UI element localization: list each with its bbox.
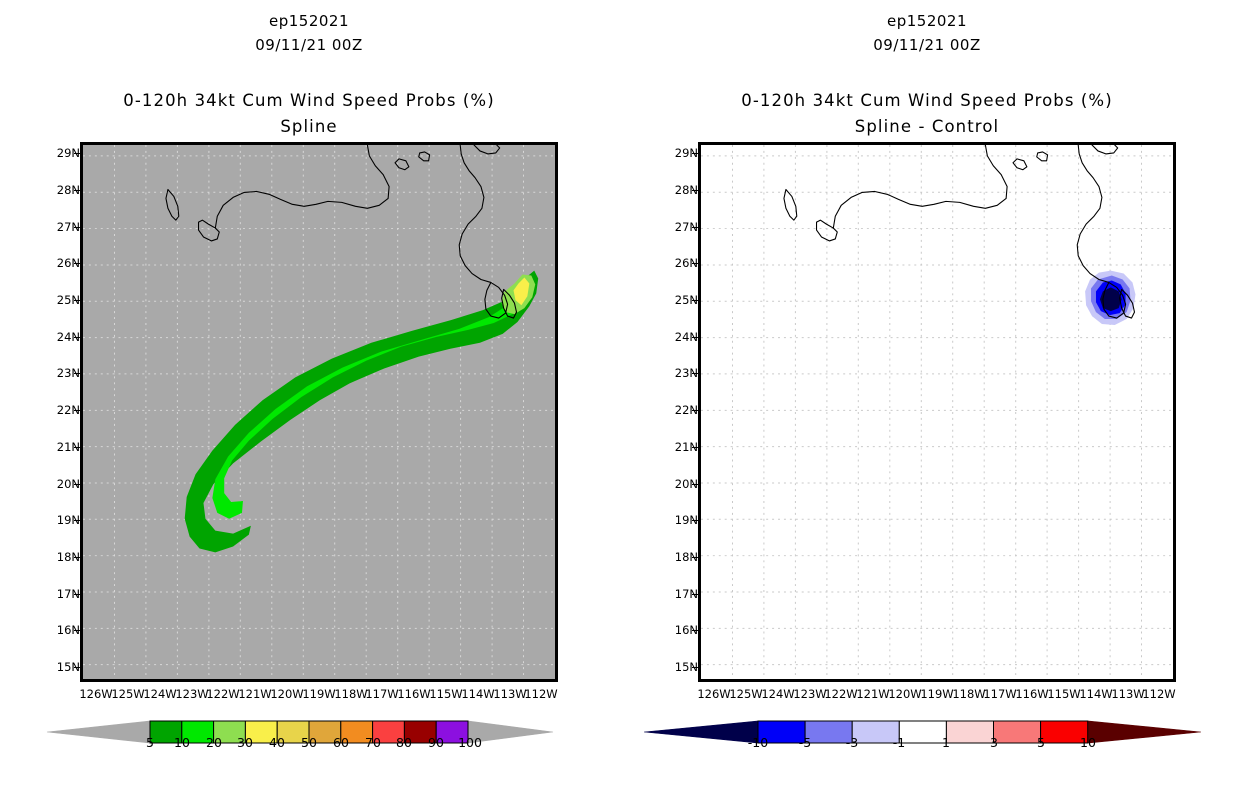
colorbar-tick-label: 3 (990, 735, 998, 750)
x-tick-label: 119W (920, 687, 953, 701)
x-tick-label: 112W (524, 687, 557, 701)
colorbar-tick-label: 30 (237, 735, 253, 750)
panel-valid-time: 09/11/21 00Z (0, 36, 618, 54)
panel-valid-time: 09/11/21 00Z (618, 36, 1236, 54)
map-plot-spline[interactable] (80, 142, 558, 682)
colorbar-tick-label: -3 (846, 735, 858, 750)
y-tick-label: 15N (44, 660, 80, 674)
colorbar-tick-label: -5 (799, 735, 811, 750)
x-tick-label: 120W (270, 687, 303, 701)
colorbar-tick-label: 60 (333, 735, 349, 750)
y-tick-label: 25N (662, 293, 698, 307)
x-tick-label: 121W (856, 687, 889, 701)
x-tick-label: 123W (175, 687, 208, 701)
x-tick-label: 113W (1111, 687, 1144, 701)
x-tick-label: 117W (365, 687, 398, 701)
x-tick-label: 122W (206, 687, 239, 701)
x-tick-label: 119W (302, 687, 335, 701)
panel-storm-id: ep152021 (618, 12, 1236, 30)
y-tick-label: 22N (662, 403, 698, 417)
y-tick-label: 27N (44, 220, 80, 234)
y-axis-right-panel: 29N 28N 27N 26N 25N 24N 23N 22N 21N 20N … (618, 0, 698, 800)
x-tick-label: 122W (824, 687, 857, 701)
colorbar-tick-label: 10 (1080, 735, 1096, 750)
colorbar-tick-label: 70 (365, 735, 381, 750)
difference-colorbar-svg (618, 716, 1236, 748)
x-tick-label: 124W (143, 687, 176, 701)
panel-title: 0-120h 34kt Cum Wind Speed Probs (%) (618, 91, 1236, 110)
y-tick-label: 19N (662, 513, 698, 527)
y-tick-label: 20N (44, 477, 80, 491)
colorbar-tick-label: 1 (942, 735, 950, 750)
x-tick-label: 124W (761, 687, 794, 701)
colorbar-tick-label: -10 (748, 735, 768, 750)
x-tick-label: 116W (1015, 687, 1048, 701)
y-tick-label: 20N (662, 477, 698, 491)
y-tick-label: 27N (662, 220, 698, 234)
x-tick-label: 118W (334, 687, 367, 701)
y-tick-label: 22N (44, 403, 80, 417)
x-tick-label: 123W (793, 687, 826, 701)
figure-canvas: ep152021 09/11/21 00Z 0-120h 34kt Cum Wi… (0, 0, 1236, 800)
x-tick-label: 116W (397, 687, 430, 701)
x-tick-label: 125W (111, 687, 144, 701)
colorbar-tick-label: 5 (1037, 735, 1045, 750)
colorbar-tick-label: 40 (269, 735, 285, 750)
y-tick-label: 21N (662, 440, 698, 454)
colorbar-tick-label: -1 (893, 735, 905, 750)
panel-spline: ep152021 09/11/21 00Z 0-120h 34kt Cum Wi… (0, 0, 618, 800)
map-contour-svg (701, 145, 1173, 679)
x-tick-label: 112W (1142, 687, 1175, 701)
y-tick-label: 16N (662, 623, 698, 637)
x-tick-label: 115W (1047, 687, 1080, 701)
x-tick-label: 125W (729, 687, 762, 701)
x-tick-label: 115W (429, 687, 462, 701)
y-tick-label: 23N (662, 366, 698, 380)
panel-spline-minus-control: ep152021 09/11/21 00Z 0-120h 34kt Cum Wi… (618, 0, 1236, 800)
y-tick-label: 29N (662, 146, 698, 160)
y-tick-label: 23N (44, 366, 80, 380)
y-tick-label: 28N (662, 183, 698, 197)
y-tick-label: 17N (44, 587, 80, 601)
y-tick-label: 28N (44, 183, 80, 197)
x-tick-label: 114W (1079, 687, 1112, 701)
y-axis-left: 29N 28N 27N 26N 25N 24N 23N 22N 21N 20N … (0, 0, 80, 800)
colorbar-tick-label: 20 (206, 735, 222, 750)
map-plot-difference[interactable] (698, 142, 1176, 682)
y-tick-label: 16N (44, 623, 80, 637)
panel-subtitle: Spline (0, 117, 618, 136)
grid-lines (83, 145, 555, 679)
y-tick-label: 21N (44, 440, 80, 454)
panel-title: 0-120h 34kt Cum Wind Speed Probs (%) (0, 91, 618, 110)
y-tick-label: 26N (662, 256, 698, 270)
x-tick-label: 126W (697, 687, 730, 701)
y-tick-label: 15N (662, 660, 698, 674)
colorbar-tick-label: 50 (301, 735, 317, 750)
y-tick-label: 29N (44, 146, 80, 160)
colorbar-tick-label: 10 (174, 735, 190, 750)
x-tick-label: 114W (461, 687, 494, 701)
y-tick-label: 18N (662, 550, 698, 564)
x-tick-label: 118W (952, 687, 985, 701)
y-tick-label: 18N (44, 550, 80, 564)
y-tick-label: 26N (44, 256, 80, 270)
y-tick-label: 25N (44, 293, 80, 307)
colorbar-tick-label: 100 (458, 735, 482, 750)
map-contour-svg (83, 145, 555, 679)
colorbar-tick-label: 80 (396, 735, 412, 750)
y-tick-label: 24N (662, 330, 698, 344)
colorbar-tick-label: 5 (146, 735, 154, 750)
panel-subtitle: Spline - Control (618, 117, 1236, 136)
y-tick-label: 19N (44, 513, 80, 527)
grid-lines (701, 145, 1173, 679)
y-tick-label: 17N (662, 587, 698, 601)
x-tick-label: 113W (493, 687, 526, 701)
x-tick-label: 117W (983, 687, 1016, 701)
y-tick-label: 24N (44, 330, 80, 344)
difference-colorbar[interactable] (618, 716, 1236, 766)
x-tick-label: 126W (79, 687, 112, 701)
x-tick-label: 121W (238, 687, 271, 701)
coastline (166, 145, 517, 318)
colorbar-tick-label: 90 (428, 735, 444, 750)
x-tick-label: 120W (888, 687, 921, 701)
panel-storm-id: ep152021 (0, 12, 618, 30)
coastline (784, 145, 1135, 318)
